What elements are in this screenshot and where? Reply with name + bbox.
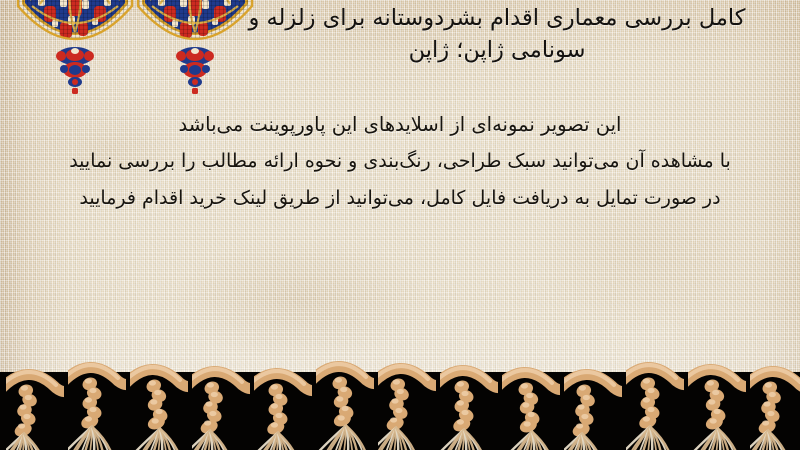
slide-title-line-1: کامل بررسی معماری اقدام بشردوستانه برای … [212, 3, 782, 35]
carpet-fringe-tassel [378, 358, 436, 450]
medallion-left-icon [16, 0, 134, 104]
carpet-fringe-tassel [564, 364, 622, 450]
carpet-fringe-tassel [626, 357, 684, 450]
slide-body-line-3: در صورت تمایل به دریافت فایل کامل، می‌تو… [14, 180, 786, 216]
carpet-fringe-tassel [688, 359, 746, 450]
slide-title: کامل بررسی معماری اقدام بشردوستانه برای … [212, 3, 782, 67]
carpet-medallion-left [16, 0, 134, 108]
slide-title-line-2: سونامی ژاپن؛ ژاپن [212, 35, 782, 67]
slide-canvas: کامل بررسی معماری اقدام بشردوستانه برای … [0, 0, 800, 450]
carpet-fringe-tassel [254, 363, 312, 450]
carpet-fringe-tassel [192, 361, 250, 450]
medallion-right-pendant [176, 47, 214, 94]
slide-body-line-1: این تصویر نمونه‌ای از اسلایدهای این پاور… [14, 106, 786, 143]
carpet-fringe-tassel [750, 361, 800, 450]
slide-body: این تصویر نمونه‌ای از اسلایدهای این پاور… [14, 106, 786, 216]
carpet-fringe-tassel [440, 360, 498, 450]
carpet-fringe-tassel [316, 356, 374, 450]
carpet-fringe-tassel [502, 362, 560, 450]
carpet-fringe-tassel [130, 359, 188, 450]
slide-body-line-2: با مشاهده آن می‌توانید سبک طراحی، رنگ‌بن… [14, 143, 786, 179]
carpet-fringe-tassel [6, 364, 64, 450]
carpet-fringe-row [0, 360, 800, 450]
carpet-fringe-tassel [68, 357, 126, 450]
medallion-left-pendant [56, 47, 94, 94]
